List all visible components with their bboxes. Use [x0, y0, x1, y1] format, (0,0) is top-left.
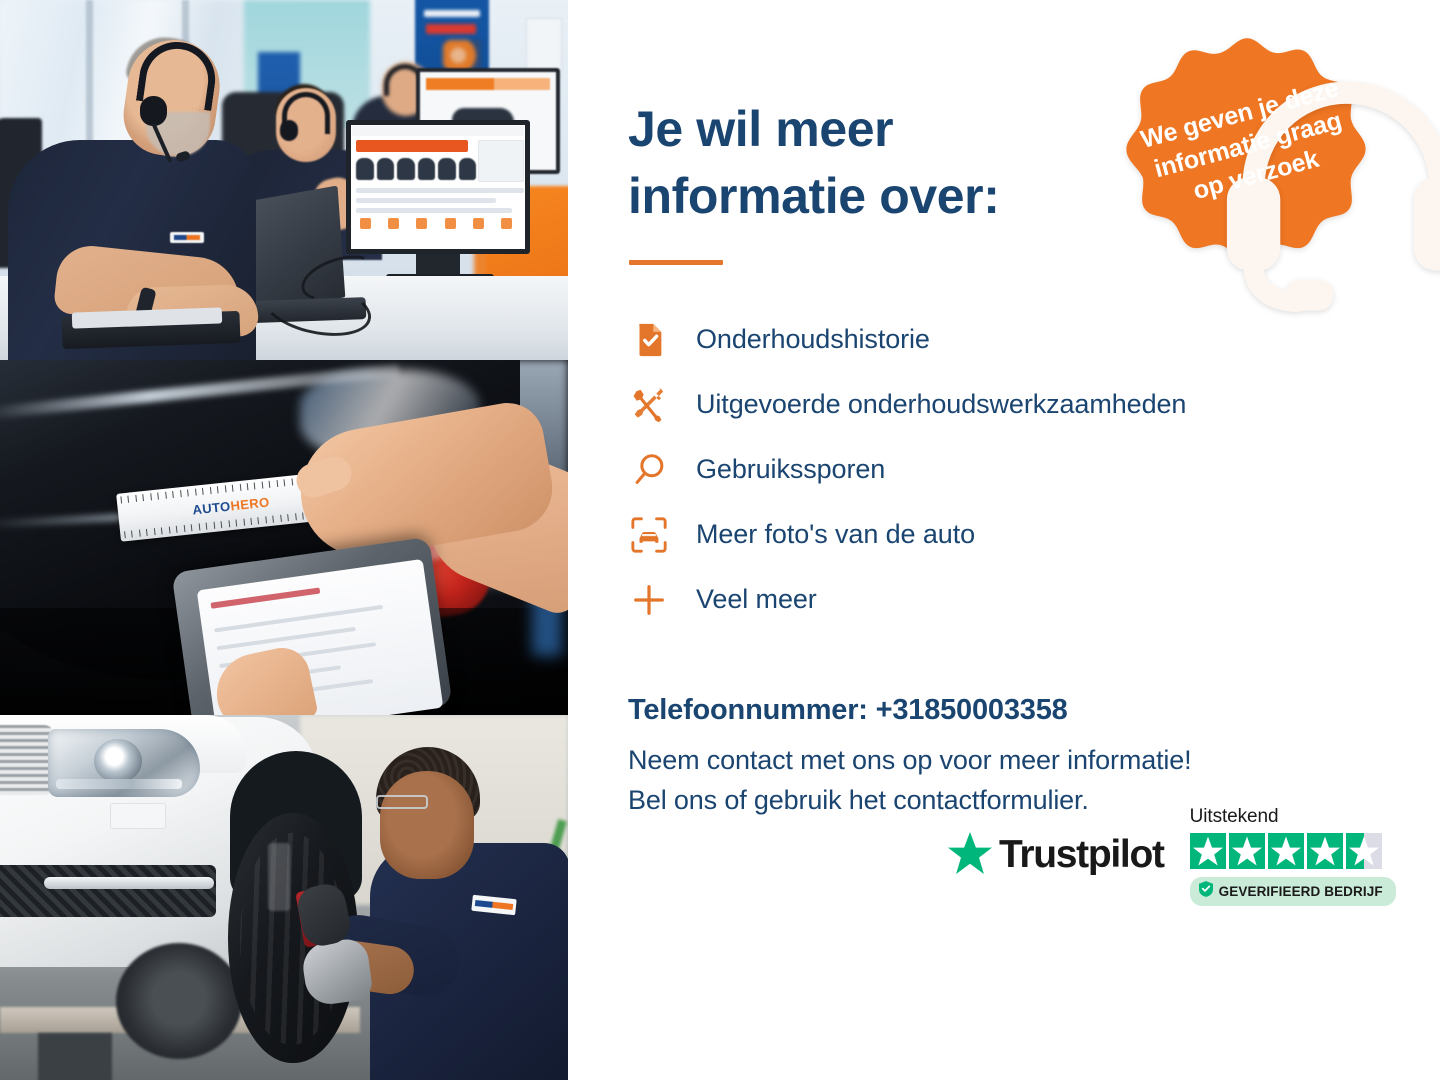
- tablet-screen-row: [214, 605, 383, 633]
- eyeglasses: [376, 795, 428, 809]
- list-item-label: Veel meer: [696, 584, 817, 615]
- page-title: Je wil meer informatie over:: [628, 96, 1098, 230]
- chrome-trim: [44, 877, 214, 889]
- list-item: Meer foto's van de auto: [628, 502, 1440, 567]
- list-item-label: Gebruikssporen: [696, 454, 885, 485]
- technician-head: [380, 771, 474, 879]
- content-column: Je wil meer informatie over: Onderhoudsh…: [568, 0, 1440, 1080]
- car-lift-support: [38, 1033, 112, 1080]
- phone-number-line: Telefoonnummer: +31850003358: [628, 694, 1440, 727]
- autohero-logo: AUTOHERO: [192, 494, 271, 517]
- accent-divider: [629, 260, 723, 265]
- wrench-screwdriver-icon: [628, 384, 670, 426]
- headset-earcup: [280, 120, 298, 141]
- photo-column: AUTOHERO: [0, 0, 568, 1080]
- promo-page: AUTOHERO: [0, 0, 1440, 1080]
- call-center-photo: [0, 0, 568, 360]
- headline-line-1: Je wil meer: [628, 101, 893, 157]
- shield-check-icon: [1199, 881, 1213, 902]
- feature-list: Onderhoudshistorie Uitgevoerde onderhoud…: [628, 307, 1440, 632]
- star-filled: [1268, 833, 1304, 869]
- magnifier-icon: [628, 449, 670, 491]
- banner-text-line: [424, 10, 480, 17]
- trustpilot-widget[interactable]: Trustpilot Uitstekend: [948, 804, 1396, 906]
- list-item-label: Meer foto's van de auto: [696, 519, 975, 550]
- headset-earcup: [140, 96, 167, 126]
- contact-line-1: Neem contact met ons op voor meer inform…: [628, 745, 1192, 775]
- list-item: Gebruikssporen: [628, 437, 1440, 502]
- list-item-label: Uitgevoerde onderhoudswerkzaamheden: [696, 389, 1186, 420]
- monitor-text-row: [356, 208, 512, 213]
- monitor-icon-row: [360, 218, 512, 232]
- trustpilot-rating: Uitstekend: [1190, 804, 1396, 906]
- star-filled: [1229, 833, 1265, 869]
- wheel-inspection-photo: [0, 715, 568, 1080]
- trustpilot-wordmark: Trustpilot: [999, 833, 1164, 877]
- license-plate-recess: [110, 803, 166, 829]
- monitor-search-bar: [356, 140, 468, 152]
- lower-bumper-grille: [0, 865, 216, 917]
- document-check-icon: [628, 319, 670, 361]
- headline-line-2: informatie over:: [628, 168, 999, 224]
- star-rating: [1190, 833, 1396, 869]
- monitor-text-row: [356, 198, 496, 203]
- trustpilot-logo: Trustpilot: [948, 832, 1164, 879]
- tyre-sidewall-marking: [268, 843, 290, 911]
- status-badge: We geven je deze informatie graag op ver…: [1118, 20, 1376, 278]
- monitor-sidebar-panel: [478, 140, 524, 182]
- banner-text-line: [426, 24, 476, 34]
- headlight-led-strip: [56, 779, 182, 789]
- monitor-car-thumbnails: [356, 158, 476, 180]
- headlight-lens: [94, 739, 142, 783]
- autohero-polo-logo: [170, 232, 204, 243]
- list-item-label: Onderhoudshistorie: [696, 324, 930, 355]
- trustpilot-star-icon: [948, 832, 992, 879]
- star-filled: [1190, 833, 1226, 869]
- monitor-header: [352, 126, 524, 136]
- rating-label: Uitstekend: [1190, 806, 1396, 828]
- list-item: Uitgevoerde onderhoudswerkzaamheden: [628, 372, 1440, 437]
- list-item: Veel meer: [628, 567, 1440, 632]
- verified-label: GEVERIFIEERD BEDRIJF: [1219, 884, 1383, 899]
- car-scan-icon: [628, 514, 670, 556]
- car-grille: [0, 725, 54, 795]
- verified-business-badge: GEVERIFIEERD BEDRIJF: [1190, 877, 1396, 906]
- rear-wheel-rim: [116, 943, 242, 1059]
- tablet-screen-header: [211, 587, 321, 608]
- star-half: [1346, 833, 1382, 869]
- monitor-text-row: [356, 188, 524, 193]
- car-inspection-photo: AUTOHERO: [0, 360, 568, 715]
- star-filled: [1307, 833, 1343, 869]
- plus-icon: [628, 579, 670, 621]
